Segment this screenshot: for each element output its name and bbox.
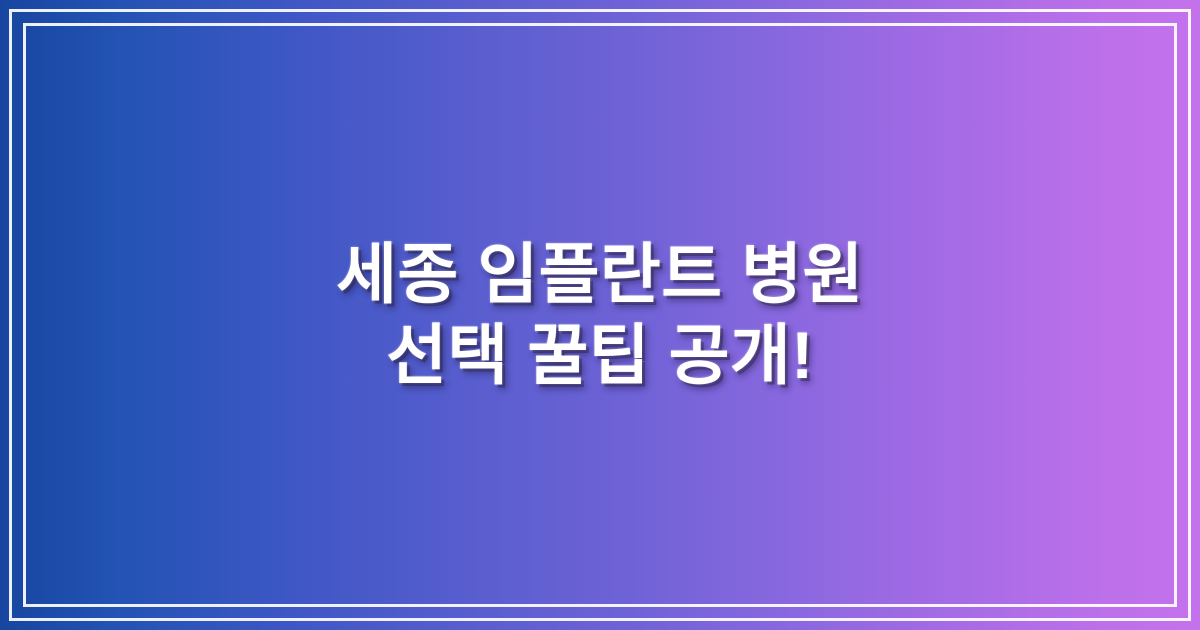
title-line-2: 선택 꿀팁 공개! — [386, 315, 813, 396]
promo-banner: 세종 임플란트 병원 선택 꿀팁 공개! — [0, 0, 1200, 630]
title-line-1: 세종 임플란트 병원 — [336, 234, 863, 315]
title-block: 세종 임플란트 병원 선택 꿀팁 공개! — [0, 0, 1200, 630]
